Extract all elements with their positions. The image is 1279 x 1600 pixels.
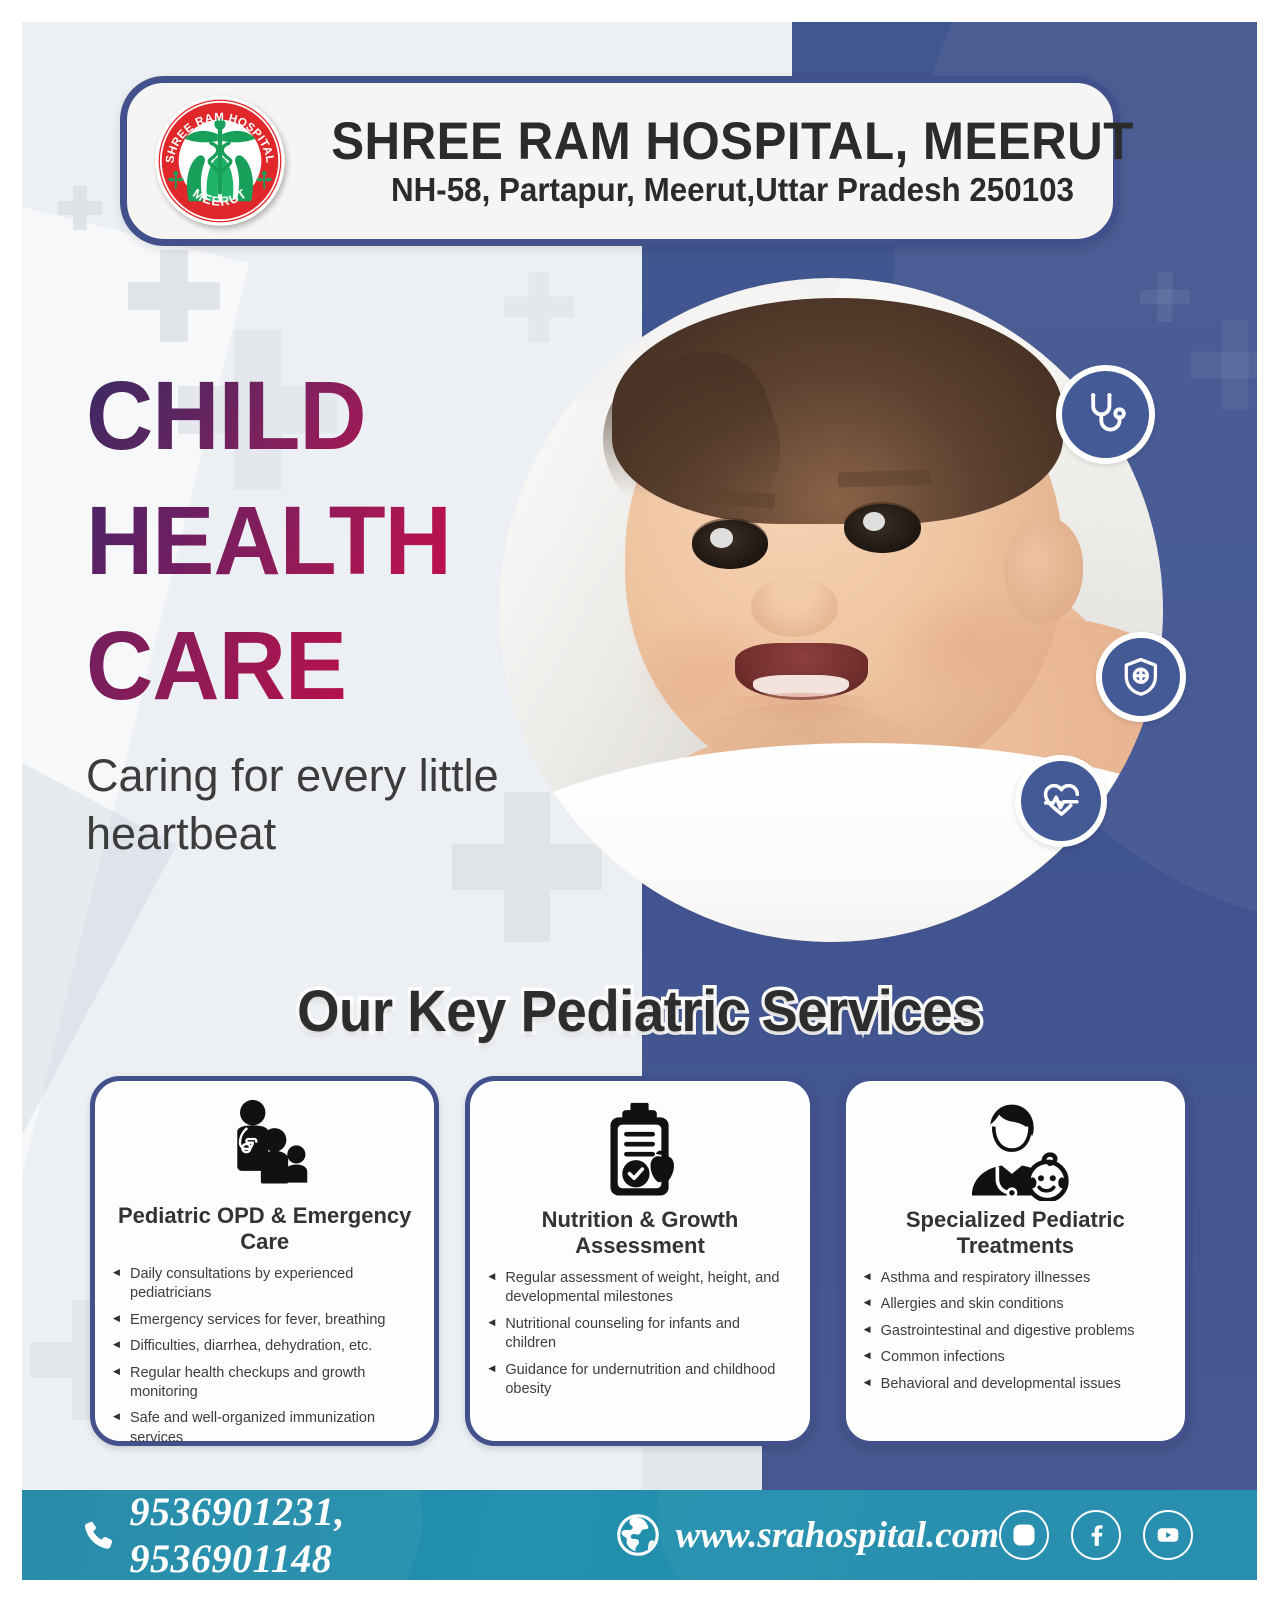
service-item: Asthma and respiratory illnesses — [864, 1269, 1167, 1288]
service-card-items: Asthma and respiratory illnesses Allergi… — [858, 1269, 1173, 1401]
clipboard-checklist-apple-icon — [585, 1099, 694, 1203]
service-item: Regular health checkups and growth monit… — [113, 1364, 416, 1403]
pediatrician-with-children-icon — [210, 1099, 319, 1199]
website-url: www.srahospital.com — [676, 1514, 999, 1557]
service-item: Emergency services for fever, breathing — [113, 1311, 416, 1330]
service-card-title: Pediatric OPD & Emergency Care — [107, 1203, 422, 1255]
poster-canvas: SHREE RAM HOSPITAL MEERUT SHREE RAM HOSP… — [0, 0, 1279, 1600]
hospital-name: SHREE RAM HOSPITAL, MEERUT — [331, 115, 1134, 169]
service-item: Allergies and skin conditions — [864, 1295, 1167, 1314]
service-card: Pediatric OPD & Emergency Care Daily con… — [90, 1076, 439, 1446]
hero-tagline: Caring for every little heartbeat — [86, 747, 516, 862]
service-card-title: Specialized Pediatric Treatments — [858, 1207, 1173, 1259]
stethoscope-icon — [1056, 365, 1155, 464]
headline-line-2: HEALTH — [86, 493, 499, 588]
doctor-with-baby-icon — [961, 1099, 1070, 1203]
youtube-icon[interactable] — [1143, 1510, 1193, 1560]
service-item: Difficulties, diarrhea, dehydration, etc… — [113, 1337, 416, 1356]
website-contact[interactable]: www.srahospital.com — [616, 1513, 999, 1557]
service-item: Behavioral and developmental issues — [864, 1375, 1167, 1394]
service-card-items: Daily consultations by experienced pedia… — [107, 1265, 422, 1455]
headline-line-1: CHILD — [86, 368, 499, 463]
shield-medical-cross-icon — [1096, 632, 1186, 722]
phone-number: 9536901231, 9536901148 — [129, 1490, 551, 1580]
social-links — [999, 1510, 1193, 1560]
hospital-logo: SHREE RAM HOSPITAL MEERUT — [153, 94, 287, 228]
contact-footer-bar: 9536901231, 9536901148 www.srahospital.c… — [22, 1490, 1257, 1580]
services-section-title: Our Key Pediatric Services — [38, 978, 1240, 1045]
service-item: Nutritional counseling for infants and c… — [488, 1315, 791, 1354]
globe-icon — [616, 1513, 660, 1557]
service-card: Specialized Pediatric Treatments Asthma … — [841, 1076, 1190, 1446]
phone-icon — [82, 1518, 115, 1552]
service-card: Nutrition & Growth Assessment Regular as… — [465, 1076, 814, 1446]
hero-headline: CHILD HEALTH CARE Caring for every littl… — [86, 368, 516, 862]
service-item: Safe and well-organized immunization ser… — [113, 1409, 416, 1448]
cross-watermark — [1190, 320, 1279, 410]
hospital-address: NH-58, Partapur, Meerut,Uttar Pradesh 25… — [391, 173, 1074, 208]
service-item: Gastrointestinal and digestive problems — [864, 1322, 1167, 1341]
service-item: Daily consultations by experienced pedia… — [113, 1265, 416, 1304]
services-card-list: Pediatric OPD & Emergency Care Daily con… — [90, 1076, 1190, 1446]
service-card-title: Nutrition & Growth Assessment — [482, 1207, 797, 1259]
headline-line-3: CARE — [86, 618, 499, 713]
cross-watermark — [58, 186, 102, 230]
service-item: Common infections — [864, 1348, 1167, 1367]
service-card-items: Regular assessment of weight, height, an… — [482, 1269, 797, 1407]
instagram-icon[interactable] — [999, 1510, 1049, 1560]
heart-pulse-icon — [1015, 755, 1107, 847]
service-item: Regular assessment of weight, height, an… — [488, 1269, 791, 1308]
facebook-icon[interactable] — [1071, 1510, 1121, 1560]
service-item: Guidance for undernutrition and childhoo… — [488, 1361, 791, 1400]
header-text-block: SHREE RAM HOSPITAL, MEERUT NH-58, Partap… — [301, 115, 1174, 208]
hospital-header-bar: SHREE RAM HOSPITAL MEERUT SHREE RAM HOSP… — [120, 76, 1120, 246]
phone-contact[interactable]: 9536901231, 9536901148 — [82, 1490, 552, 1580]
cross-watermark — [128, 250, 220, 342]
